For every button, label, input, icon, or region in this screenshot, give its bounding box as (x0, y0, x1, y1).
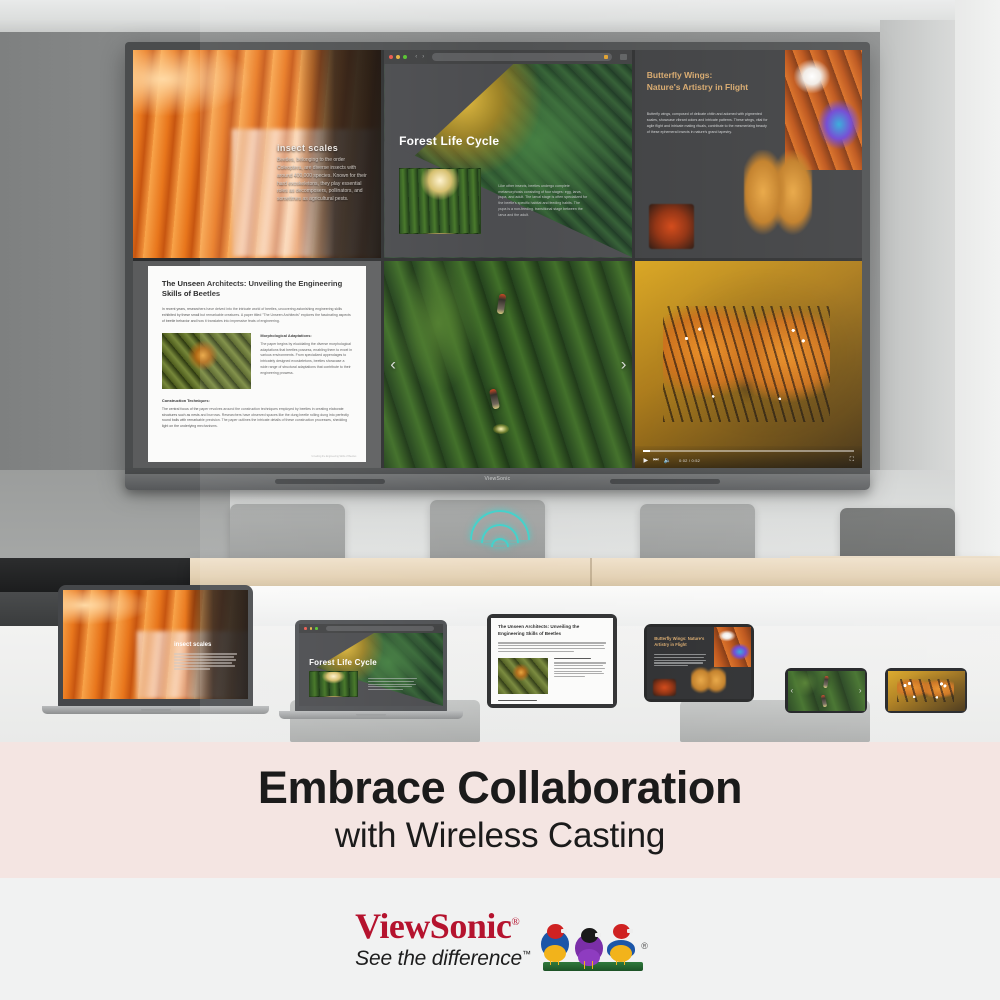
tablet-screen[interactable]: Butterfly Wings: Nature's Artistry in Fl… (647, 627, 751, 699)
panel-butterfly-wings[interactable]: Butterfly Wings: Nature's Artistry in Fl… (635, 50, 862, 258)
phone-screen[interactable] (888, 671, 965, 711)
chevron-left-icon[interactable]: ‹ (390, 356, 396, 373)
forest-inset-image-mirror (309, 671, 358, 697)
butterfly-wings-title-line1: Butterfly Wings: (647, 70, 713, 80)
laptop-trackpad-notch (356, 714, 386, 717)
laptop-insect-scales-title: insect scales (174, 642, 211, 648)
video-player-controls[interactable]: ▶ ⏭ 🔈 0:02 / 0:52 ⛶ (635, 446, 862, 468)
tablet-beetle-photo (498, 658, 548, 694)
maximize-icon[interactable] (403, 55, 407, 59)
wifi-cast-icon (468, 508, 532, 552)
display-screen[interactable]: insect scales Beetles, belonging to the … (133, 50, 862, 468)
browser-menu-icon[interactable] (620, 54, 627, 60)
fullscreen-icon[interactable]: ⛶ (850, 457, 854, 464)
finch-beak (561, 929, 567, 933)
logo-text-block: ViewSonic® See the difference™ (355, 908, 531, 971)
tablet-butterfly-wings[interactable]: Butterfly Wings: Nature's Artistry in Fl… (644, 624, 754, 702)
firefly-glow (493, 424, 509, 434)
video-control-group[interactable]: ▶ ⏭ 🔈 0:02 / 0:52 (643, 457, 700, 464)
interactive-display[interactable]: insect scales Beetles, belonging to the … (125, 42, 870, 482)
butterfly-thumbnail-image (649, 204, 694, 250)
leaf-butterfly-image-mirror (691, 667, 726, 696)
forward-icon[interactable]: › (422, 54, 424, 60)
finch-beak (627, 929, 633, 933)
phone-screen[interactable]: ‹ › (788, 671, 865, 711)
finch-middle (575, 928, 603, 968)
play-icon[interactable]: ▶ (643, 457, 648, 464)
firefly-insect-top (497, 293, 507, 314)
butterfly-wings-slide: Butterfly Wings: Nature's Artistry in Fl… (635, 50, 862, 258)
chevron-right-icon[interactable]: › (859, 687, 862, 695)
poster-stage: insect scales Beetles, belonging to the … (0, 0, 1000, 1000)
browser-viewport: Forest Life Cycle Like other insects, be… (384, 64, 632, 258)
tablet-document-heading: The Unseen Architects: Unveiling the Eng… (498, 624, 606, 637)
butterfly-wings-title: Butterfly Wings: Nature's Artistry in Fl… (647, 69, 774, 94)
logo-registered-mark: ® (641, 941, 648, 951)
panel-monarch-video[interactable]: ▶ ⏭ 🔈 0:02 / 0:52 ⛶ (635, 261, 862, 469)
butterfly-thumbnail-image-mirror (653, 679, 676, 696)
monarch-video-frame (635, 261, 862, 469)
browser-chrome-mirror (299, 624, 443, 633)
monarch-wing-spots (663, 306, 831, 422)
next-track-icon[interactable]: ⏭ (653, 457, 658, 464)
display-panel-grid: insect scales Beetles, belonging to the … (133, 50, 862, 468)
insect-scales-title: insect scales (277, 143, 371, 153)
finch-legs (584, 961, 593, 969)
browser-nav[interactable]: ‹ › (415, 54, 424, 60)
ceiling (0, 0, 1000, 32)
display-bezel-chin: ViewSonic (125, 474, 870, 490)
brand-name: ViewSonic® (355, 908, 519, 944)
video-time-display: 0:02 / 0:52 (679, 458, 700, 463)
display-speaker-left (275, 479, 385, 484)
document-section2-body: The central focus of the paper revolves … (162, 407, 352, 431)
laptop-forest-life-cycle[interactable]: Forest Life Cycle (295, 620, 447, 712)
finch-right (607, 924, 635, 964)
gouldian-finches-icon: ® (541, 909, 645, 971)
document-section1-body: The paper begins by elucidating the dive… (260, 342, 352, 378)
finch-beak (595, 933, 601, 937)
laptop-insect-scales-lines (174, 653, 237, 671)
maximize-icon (315, 627, 318, 630)
leaf-butterfly-image (744, 150, 812, 243)
document-section1-title: Morphological Adaptations: (260, 333, 352, 338)
close-icon[interactable] (389, 55, 393, 59)
minimize-icon[interactable] (396, 55, 400, 59)
firefly-insect-bottom-mirror (821, 694, 827, 707)
right-pillar (955, 0, 1000, 600)
firefly-image (384, 261, 632, 469)
firefly-insect-top-mirror (824, 676, 830, 688)
conference-room-scene: insect scales Beetles, belonging to the … (0, 0, 1000, 742)
banner-headline: Embrace Collaboration (258, 764, 742, 811)
tablet-document-section-lines (554, 658, 606, 694)
brand-name-text: ViewSonic (355, 906, 511, 946)
close-icon (304, 627, 307, 630)
laptop-lid: insect scales (58, 585, 253, 707)
finch-legs (616, 957, 625, 965)
forest-life-cycle-body: Like other insects, beetles undergo comp… (498, 184, 587, 219)
firefly-image-mirror (788, 671, 865, 711)
tablet-beetle-document[interactable]: The Unseen Architects: Unveiling the Eng… (487, 614, 617, 708)
document-heading: The Unseen Architects: Unveiling the Eng… (162, 279, 352, 300)
monarch-video-frame-mirror (888, 671, 965, 711)
volume-icon[interactable]: 🔈 (663, 457, 670, 464)
traffic-lights-mirror (304, 627, 318, 630)
laptop-forest-life-cycle-title: Forest Life Cycle (309, 658, 377, 667)
panel-insect-scales[interactable]: insect scales Beetles, belonging to the … (133, 50, 381, 258)
document-body-row: Morphological Adaptations: The paper beg… (162, 333, 352, 389)
insect-scales-text: insect scales Beetles, belonging to the … (277, 143, 371, 204)
display-speaker-right (610, 479, 720, 484)
banner-subheadline: with Wireless Casting (335, 816, 665, 856)
phone-firefly[interactable]: ‹ › (785, 668, 867, 713)
beetle-photo (162, 333, 251, 389)
registered-trademark-icon: ® (511, 916, 519, 928)
browser-window[interactable]: ‹ › (384, 50, 632, 258)
laptop-trackpad-notch (141, 709, 171, 712)
finch-legs (550, 957, 559, 965)
document-intro: In recent years, researchers have delved… (162, 307, 352, 325)
document-viewer[interactable]: The Unseen Architects: Unveiling the Eng… (133, 261, 381, 469)
butterfly-wing-macro-image-mirror (714, 627, 751, 667)
laptop-insect-scales[interactable]: insect scales (58, 585, 253, 707)
display-brand-label: ViewSonic (485, 476, 511, 482)
phone-monarch[interactable] (885, 668, 967, 713)
browser-viewport-mirror: Forest Life Cycle (299, 633, 443, 706)
monarch-wing-spots-mirror (897, 679, 954, 701)
document-right-column: Morphological Adaptations: The paper beg… (260, 333, 352, 389)
viewsonic-logo: ViewSonic® See the difference™ (355, 908, 645, 971)
tablet-butterfly-body-lines (654, 654, 706, 667)
laptop-lid: Forest Life Cycle (295, 620, 447, 712)
butterfly-wings-body: Butterfly wings, composed of delicate ch… (647, 112, 769, 136)
tablet-butterfly-title: Butterfly Wings: Nature's Artistry in Fl… (654, 636, 708, 648)
brand-tagline: See the difference™ (355, 947, 531, 971)
brand-footer: ViewSonic® See the difference™ (0, 878, 1000, 1000)
bookmark-icon[interactable] (604, 55, 608, 59)
trademark-icon: ™ (522, 949, 531, 959)
tablet-document-intro-lines (498, 642, 606, 652)
chevron-right-icon[interactable]: › (621, 356, 627, 373)
document-section2-title: Construction Techniques: (162, 398, 352, 403)
firefly-insect-bottom (489, 389, 500, 410)
document-page: The Unseen Architects: Unveiling the Eng… (148, 266, 366, 462)
finch-left (541, 924, 569, 964)
tablet-document-row (498, 658, 606, 694)
video-progress-bar[interactable] (643, 450, 854, 452)
panel-firefly-gallery[interactable]: ‹ › (384, 261, 632, 469)
promo-banner: Embrace Collaboration with Wireless Cast… (0, 742, 1000, 878)
minimize-icon (310, 627, 313, 630)
tablet-screen[interactable]: The Unseen Architects: Unveiling the Eng… (491, 618, 613, 704)
document-footer-note: Unveiling the Engineering Skills of Beet… (312, 455, 357, 458)
forest-body-lines-mirror (368, 678, 417, 691)
address-bar-mirror (326, 626, 435, 631)
insect-scales-body: Beetles, belonging to the order Coleopte… (277, 157, 371, 204)
chevron-left-icon[interactable]: ‹ (791, 687, 794, 695)
forest-life-cycle-title: Forest Life Cycle (399, 134, 499, 148)
traffic-lights[interactable] (389, 55, 407, 59)
address-bar[interactable] (432, 53, 612, 61)
back-icon[interactable]: ‹ (415, 54, 417, 60)
butterfly-wings-title-line2: Nature's Artistry in Flight (647, 82, 748, 92)
browser-chrome[interactable]: ‹ › (384, 50, 632, 64)
laptop-screen[interactable]: Forest Life Cycle (299, 624, 443, 706)
panel-beetle-document[interactable]: The Unseen Architects: Unveiling the Eng… (133, 261, 381, 469)
laptop-screen[interactable]: insect scales (63, 590, 248, 699)
brand-tagline-text: See the difference (355, 947, 522, 970)
tablet-document-section2-lines (498, 700, 606, 704)
forest-inset-image (399, 168, 481, 234)
panel-forest-life-cycle[interactable]: ‹ › (384, 50, 632, 258)
